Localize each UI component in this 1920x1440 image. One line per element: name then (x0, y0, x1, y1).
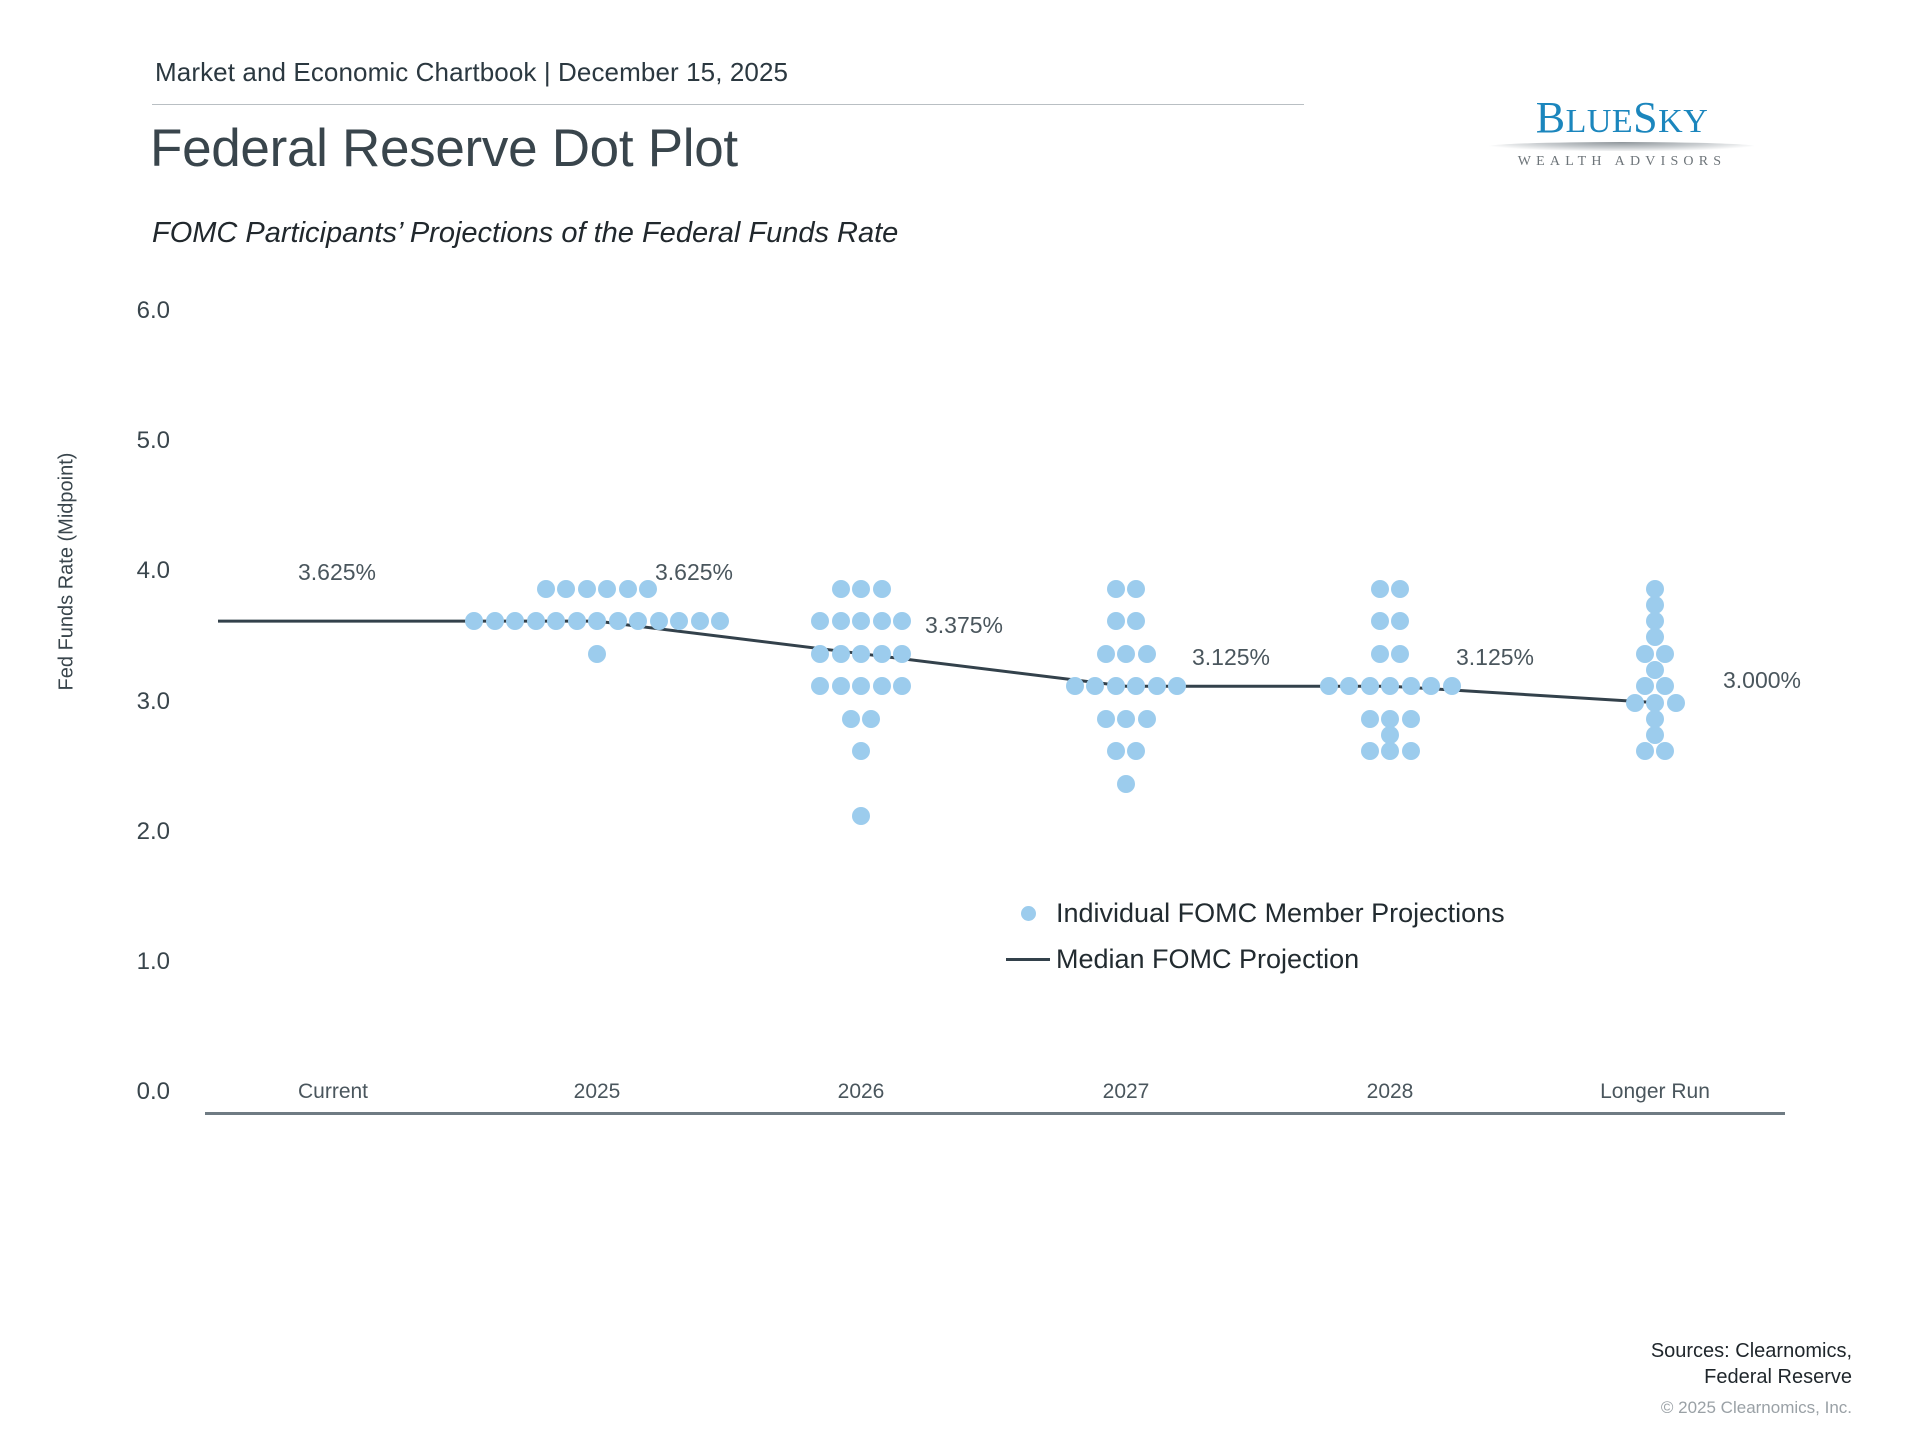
fomc-projection-dot (1107, 580, 1125, 598)
chart-legend: Individual FOMC Member Projections Media… (1000, 890, 1505, 982)
fomc-projection-dot (1636, 742, 1654, 760)
fomc-projection-dot (1646, 596, 1664, 614)
fomc-projection-dot (619, 580, 637, 598)
fomc-projection-dot (1127, 580, 1145, 598)
fomc-projection-dot (670, 612, 688, 630)
fomc-projection-dot (852, 645, 870, 663)
fomc-projection-dot (893, 677, 911, 695)
fomc-projection-dot (1391, 612, 1409, 630)
fomc-projection-dot (1086, 677, 1104, 695)
median-value-label: 3.125% (1192, 644, 1270, 671)
fomc-projection-dot (1636, 645, 1654, 663)
legend-dot-icon (1000, 906, 1056, 921)
fomc-projection-dot (873, 677, 891, 695)
fomc-projection-dot (465, 612, 483, 630)
fomc-projection-dot (1066, 677, 1084, 695)
fomc-projection-dot (832, 677, 850, 695)
y-tick-label: 1.0 (100, 948, 170, 976)
y-axis-title: Fed Funds Rate (Midpoint) (56, 442, 79, 702)
fomc-projection-dot (862, 710, 880, 728)
logo-swoosh-icon (1488, 142, 1756, 151)
x-axis-line (205, 1112, 1785, 1115)
fomc-projection-dot (711, 612, 729, 630)
fomc-projection-dot (1117, 775, 1135, 793)
legend-item-median: Median FOMC Projection (1000, 936, 1505, 982)
fomc-projection-dot (873, 645, 891, 663)
fomc-projection-dot (832, 580, 850, 598)
fomc-projection-dot (1656, 677, 1674, 695)
page-subtitle: FOMC Participants’ Projections of the Fe… (152, 217, 898, 250)
fomc-projection-dot (1646, 580, 1664, 598)
fomc-projection-dot (1656, 742, 1674, 760)
median-value-label: 3.000% (1723, 667, 1801, 694)
fomc-projection-dot (588, 612, 606, 630)
legend-line-icon (1000, 958, 1056, 961)
median-projection-path (218, 621, 1655, 702)
fomc-projection-dot (650, 612, 668, 630)
fomc-projection-dot (578, 580, 596, 598)
fomc-projection-dot (1361, 710, 1379, 728)
logo-tagline: WEALTH ADVISORS (1486, 154, 1758, 170)
fomc-projection-dot (1361, 742, 1379, 760)
y-tick-label: 3.0 (100, 688, 170, 716)
y-tick-label: 0.0 (100, 1078, 170, 1106)
fomc-projection-dot (1168, 677, 1186, 695)
median-value-label: 3.375% (925, 612, 1003, 639)
fomc-projection-dot (486, 612, 504, 630)
fomc-projection-dot (842, 710, 860, 728)
fomc-projection-dot (1371, 645, 1389, 663)
fomc-projection-dot (1127, 677, 1145, 695)
fomc-projection-dot (629, 612, 647, 630)
sources-note: Sources: Clearnomics, Federal Reserve (1432, 1338, 1852, 1391)
fomc-projection-dot (639, 580, 657, 598)
legend-item-dots: Individual FOMC Member Projections (1000, 890, 1505, 936)
y-tick-label: 2.0 (100, 818, 170, 846)
fomc-projection-dot (1371, 580, 1389, 598)
fomc-projection-dot (1138, 645, 1156, 663)
bluesky-logo: BLUESKY WEALTH ADVISORS (1486, 96, 1758, 170)
fomc-projection-dot (1097, 710, 1115, 728)
median-value-label: 3.625% (298, 559, 376, 586)
fomc-projection-dot (1320, 677, 1338, 695)
x-tick-label: 2028 (1280, 1080, 1500, 1104)
fomc-projection-dot (811, 645, 829, 663)
y-tick-label: 5.0 (100, 427, 170, 455)
fomc-projection-dot (1381, 726, 1399, 744)
logo-wordmark: BLUESKY (1486, 96, 1758, 140)
fomc-projection-dot (1381, 742, 1399, 760)
fomc-projection-dot (691, 612, 709, 630)
page-title: Federal Reserve Dot Plot (150, 118, 738, 179)
fomc-projection-dot (1646, 726, 1664, 744)
fomc-projection-dot (1646, 661, 1664, 679)
legend-label-dots: Individual FOMC Member Projections (1056, 898, 1505, 929)
fomc-projection-dot (1107, 612, 1125, 630)
fomc-projection-dot (537, 580, 555, 598)
legend-label-median: Median FOMC Projection (1056, 944, 1359, 975)
fomc-projection-dot (547, 612, 565, 630)
fomc-projection-dot (1402, 677, 1420, 695)
fomc-projection-dot (1391, 580, 1409, 598)
fomc-projection-dot (1667, 694, 1685, 712)
fomc-projection-dot (527, 612, 545, 630)
fomc-projection-dot (893, 645, 911, 663)
fomc-projection-dot (811, 612, 829, 630)
header-divider (152, 104, 1304, 105)
fomc-projection-dot (609, 612, 627, 630)
fomc-projection-dot (1381, 677, 1399, 695)
x-tick-label: Longer Run (1545, 1080, 1765, 1104)
x-tick-label: 2025 (487, 1080, 707, 1104)
fomc-projection-dot (506, 612, 524, 630)
fomc-projection-dot (1646, 612, 1664, 630)
fomc-projection-dot (852, 580, 870, 598)
dot-plot-chart: Fed Funds Rate (Midpoint) 0.01.02.03.04.… (0, 0, 1920, 1440)
fomc-projection-dot (1646, 694, 1664, 712)
fomc-projection-dot (1340, 677, 1358, 695)
fomc-projection-dot (1107, 742, 1125, 760)
fomc-projection-dot (568, 612, 586, 630)
sources-line-2: Federal Reserve (1432, 1364, 1852, 1390)
fomc-projection-dot (1138, 710, 1156, 728)
chartbook-kicker: Market and Economic Chartbook | December… (155, 57, 788, 88)
median-line (0, 0, 1920, 1440)
fomc-projection-dot (1107, 677, 1125, 695)
fomc-projection-dot (1626, 694, 1644, 712)
fomc-projection-dot (1117, 710, 1135, 728)
fomc-projection-dot (1127, 742, 1145, 760)
fomc-projection-dot (557, 580, 575, 598)
fomc-projection-dot (1402, 742, 1420, 760)
fomc-projection-dot (873, 580, 891, 598)
fomc-projection-dot (852, 612, 870, 630)
fomc-projection-dot (1422, 677, 1440, 695)
fomc-projection-dot (1117, 645, 1135, 663)
fomc-projection-dot (832, 645, 850, 663)
fomc-projection-dot (1371, 612, 1389, 630)
fomc-projection-dot (832, 612, 850, 630)
fomc-projection-dot (852, 807, 870, 825)
fomc-projection-dot (1361, 677, 1379, 695)
copyright-note: © 2025 Clearnomics, Inc. (1432, 1398, 1852, 1418)
sources-line-1: Sources: Clearnomics, (1432, 1338, 1852, 1364)
fomc-projection-dot (852, 677, 870, 695)
y-tick-label: 4.0 (100, 557, 170, 585)
fomc-projection-dot (1381, 710, 1399, 728)
y-tick-label: 6.0 (100, 297, 170, 325)
fomc-projection-dot (1097, 645, 1115, 663)
median-value-label: 3.625% (655, 559, 733, 586)
fomc-projection-dot (1646, 628, 1664, 646)
fomc-projection-dot (852, 742, 870, 760)
fomc-projection-dot (1443, 677, 1461, 695)
fomc-projection-dot (811, 677, 829, 695)
fomc-projection-dot (1646, 710, 1664, 728)
median-value-label: 3.125% (1456, 644, 1534, 671)
fomc-projection-dot (1391, 645, 1409, 663)
x-tick-label: Current (223, 1080, 443, 1104)
fomc-projection-dot (598, 580, 616, 598)
x-tick-label: 2026 (751, 1080, 971, 1104)
x-tick-label: 2027 (1016, 1080, 1236, 1104)
fomc-projection-dot (1127, 612, 1145, 630)
fomc-projection-dot (1656, 645, 1674, 663)
fomc-projection-dot (1148, 677, 1166, 695)
fomc-projection-dot (588, 645, 606, 663)
fomc-projection-dot (893, 612, 911, 630)
fomc-projection-dot (1402, 710, 1420, 728)
fomc-projection-dot (873, 612, 891, 630)
fomc-projection-dot (1636, 677, 1654, 695)
